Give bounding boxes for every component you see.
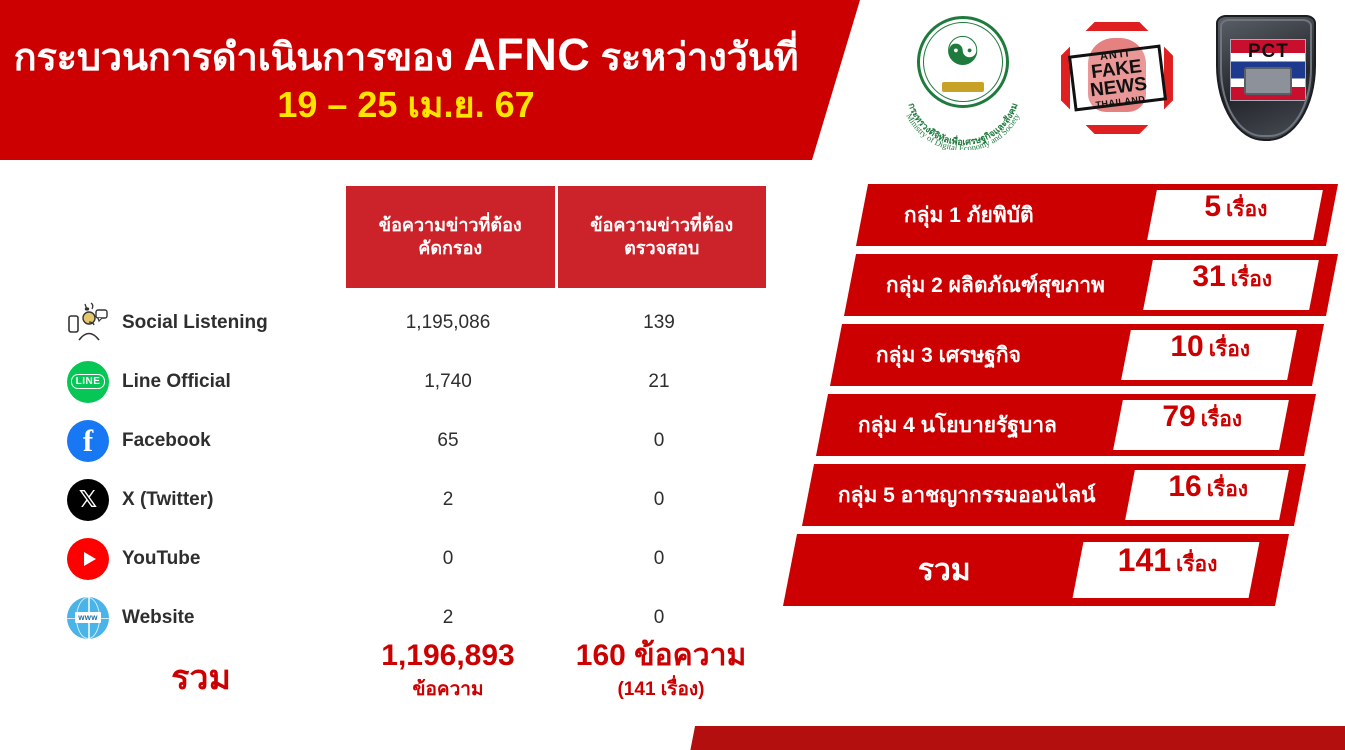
- bottom-accent-bar: [690, 726, 1345, 750]
- col1-line1: ข้อความข่าวที่ต้อง: [379, 215, 522, 235]
- group-label-3: กลุ่ม 3 เศรษฐกิจ: [876, 339, 1021, 372]
- line-icon: LINE: [67, 361, 109, 403]
- verified-value: 21: [554, 371, 764, 393]
- total-verified-value: 160 ข้อความ: [554, 640, 768, 672]
- afn-stamp: ANTI FAKE NEWS THAILAND: [1068, 45, 1167, 112]
- row-icon-cell: f: [60, 420, 116, 462]
- screened-value: 65: [342, 430, 554, 452]
- channel-name: YouTube: [116, 548, 342, 570]
- verified-value: 0: [554, 430, 764, 452]
- page-title: กระบวนการดำเนินการของ AFNC ระหว่างวันที่: [14, 30, 799, 80]
- title-prefix: กระบวนการดำเนินการของ: [14, 37, 464, 79]
- table-total-row: รวม 1,196,893 ข้อความ 160 ข้อความ (141 เ…: [60, 640, 780, 720]
- total-screened-unit: ข้อความ: [342, 674, 554, 704]
- group-value-5: 16เรื่อง: [1169, 470, 1249, 506]
- group-bar-5: กลุ่ม 5 อาชญากรรมออนไลน์ 16เรื่อง: [802, 464, 1306, 526]
- group-total-chip: 141เรื่อง: [1073, 542, 1260, 598]
- group-value-1: 5เรื่อง: [1205, 190, 1268, 226]
- mdes-logo: ☯ กระทรวงดิจิทัลเพื่อเศรษฐกิจและสังคม Mi…: [898, 10, 1028, 150]
- row-icon-cell: [60, 538, 116, 580]
- screened-value: 0: [342, 548, 554, 570]
- group-value-chip-5: 16เรื่อง: [1125, 470, 1289, 520]
- total-screened: 1,196,893 ข้อความ: [342, 640, 554, 704]
- group-value-chip-4: 79เรื่อง: [1113, 400, 1289, 450]
- group-bar-total: รวม 141เรื่อง: [783, 534, 1289, 606]
- group-value-chip-1: 5เรื่อง: [1147, 190, 1323, 240]
- column-header-verified: ข้อความข่าวที่ต้องตรวจสอบ: [558, 186, 767, 288]
- pct-logo: PCT: [1207, 10, 1325, 150]
- group-total-value: 141เรื่อง: [1118, 542, 1218, 581]
- table-row: Social Listening 1,195,086 139: [60, 293, 780, 352]
- verified-value: 0: [554, 548, 764, 570]
- total-screened-value: 1,196,893: [342, 640, 554, 672]
- screened-value: 2: [342, 607, 554, 629]
- group-bar-1: กลุ่ม 1 ภัยพิบัติ 5เรื่อง: [856, 184, 1338, 246]
- screened-value: 1,195,086: [342, 312, 554, 334]
- group-total-label: รวม: [918, 547, 971, 594]
- table-row: LINE Line Official 1,740 21: [60, 352, 780, 411]
- group-bar-chart: กลุ่ม 1 ภัยพิบัติ 5เรื่อง กลุ่ม 2 ผลิตภั…: [760, 178, 1345, 750]
- group-label-4: กลุ่ม 4 นโยบายรัฐบาล: [858, 409, 1057, 442]
- group-bar-3: กลุ่ม 3 เศรษฐกิจ 10เรื่อง: [830, 324, 1324, 386]
- logo-group: ☯ กระทรวงดิจิทัลเพื่อเศรษฐกิจและสังคม Mi…: [884, 4, 1339, 156]
- row-icon-cell: [60, 300, 116, 346]
- verified-value: 0: [554, 489, 764, 511]
- group-bar-2: กลุ่ม 2 ผลิตภัณฑ์สุขภาพ 31เรื่อง: [844, 254, 1338, 316]
- total-label: รวม: [60, 640, 342, 704]
- group-bar-4: กลุ่ม 4 นโยบายรัฐบาล 79เรื่อง: [816, 394, 1316, 456]
- group-value-2: 31เรื่อง: [1193, 260, 1273, 296]
- row-icon-cell: LINE: [60, 361, 116, 403]
- screened-value: 1,740: [342, 371, 554, 393]
- group-label-5: กลุ่ม 5 อาชญากรรมออนไลน์: [838, 479, 1096, 512]
- channel-table: Social Listening 1,195,086 139 LINE Line…: [60, 293, 780, 647]
- group-value-3: 10เรื่อง: [1171, 330, 1251, 366]
- header-title-block: กระบวนการดำเนินการของ AFNC ระหว่างวันที่…: [0, 0, 812, 160]
- col2-line2: ตรวจสอบ: [624, 238, 699, 258]
- channel-name: Line Official: [116, 371, 342, 393]
- row-icon-cell: www: [60, 597, 116, 639]
- col2-line1: ข้อความข่าวที่ต้อง: [590, 215, 733, 235]
- col1-line2: คัดกรอง: [418, 238, 482, 258]
- total-verified-unit: (141 เรื่อง): [554, 674, 768, 704]
- shield-rim: [1220, 19, 1312, 137]
- group-label-1: กลุ่ม 1 ภัยพิบัติ: [904, 199, 1034, 232]
- channel-name: X (Twitter): [116, 489, 342, 511]
- mdes-caption-arc: กระทรวงดิจิทัลเพื่อเศรษฐกิจและสังคม Mini…: [898, 10, 1028, 150]
- total-verified: 160 ข้อความ (141 เรื่อง): [554, 640, 768, 704]
- date-range: 19 – 25 เม.ย. 67: [277, 83, 534, 126]
- infographic-root: กระบวนการดำเนินการของ AFNC ระหว่างวันที่…: [0, 0, 1345, 750]
- group-label-2: กลุ่ม 2 ผลิตภัณฑ์สุขภาพ: [886, 269, 1105, 302]
- x-twitter-icon: 𝕏: [67, 479, 109, 521]
- screened-value: 2: [342, 489, 554, 511]
- social-listening-icon: [65, 300, 111, 346]
- group-value-chip-2: 31เรื่อง: [1143, 260, 1319, 310]
- channel-name: Social Listening: [116, 312, 342, 334]
- table-row: f Facebook 65 0: [60, 411, 780, 470]
- group-value-chip-3: 10เรื่อง: [1121, 330, 1297, 380]
- facebook-icon: f: [67, 420, 109, 462]
- table-row: YouTube 0 0: [60, 529, 780, 588]
- channel-name: Facebook: [116, 430, 342, 452]
- verified-value: 139: [554, 312, 764, 334]
- website-icon: www: [67, 597, 109, 639]
- table-header: ข้อความข่าวที่ต้องคัดกรอง ข้อความข่าวที่…: [346, 186, 766, 288]
- anti-fake-news-logo: ANTI FAKE NEWS THAILAND: [1055, 16, 1180, 144]
- title-suffix: ระหว่างวันที่: [590, 37, 798, 79]
- group-value-4: 79เรื่อง: [1163, 400, 1243, 436]
- shield-icon: PCT: [1216, 15, 1316, 141]
- title-afnc: AFNC: [463, 29, 590, 80]
- youtube-icon: [67, 538, 109, 580]
- channel-name: Website: [116, 607, 342, 629]
- svg-text:กระทรวงดิจิทัลเพื่อเศรษฐกิจและ: กระทรวงดิจิทัลเพื่อเศรษฐกิจและสังคม: [906, 102, 1019, 147]
- table-row: 𝕏 X (Twitter) 2 0: [60, 470, 780, 529]
- row-icon-cell: 𝕏: [60, 479, 116, 521]
- column-header-screened: ข้อความข่าวที่ต้องคัดกรอง: [346, 186, 555, 288]
- verified-value: 0: [554, 607, 764, 629]
